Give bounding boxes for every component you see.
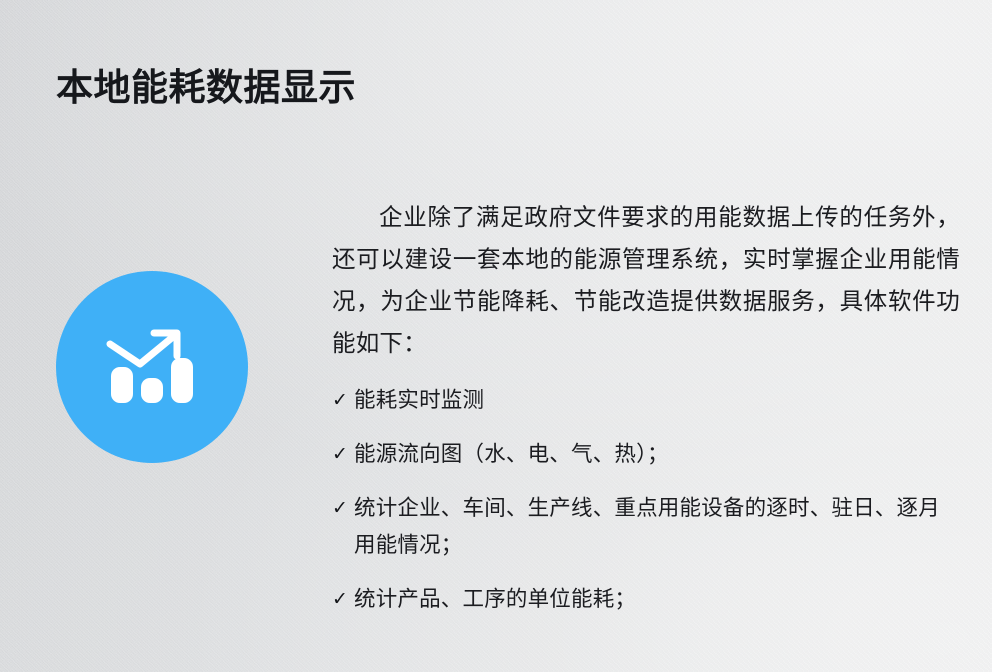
bar-chart-trending-up-icon: [56, 271, 248, 463]
check-icon: ✓: [332, 436, 348, 473]
list-item-label: 能耗实时监测: [354, 382, 960, 419]
slide-canvas: 本地能耗数据显示 企业除了满足政府文件要求的用能数据上传的任务外，还可以建设一套…: [0, 0, 992, 672]
list-item: ✓ 统计产品、工序的单位能耗；: [332, 581, 960, 618]
check-icon: ✓: [332, 490, 348, 527]
page-title: 本地能耗数据显示: [56, 66, 356, 110]
list-item: ✓ 统计企业、车间、生产线、重点用能设备的逐时、驻日、逐月用能情况；: [332, 490, 960, 564]
list-item: ✓ 能耗实时监测: [332, 382, 960, 419]
body-content: 企业除了满足政府文件要求的用能数据上传的任务外，还可以建设一套本地的能源管理系统…: [332, 196, 960, 618]
list-item-label: 统计企业、车间、生产线、重点用能设备的逐时、驻日、逐月用能情况；: [354, 490, 960, 564]
feature-bullet-list: ✓ 能耗实时监测 ✓ 能源流向图（水、电、气、热）； ✓ 统计企业、车间、生产线…: [332, 382, 960, 618]
intro-paragraph: 企业除了满足政府文件要求的用能数据上传的任务外，还可以建设一套本地的能源管理系统…: [332, 196, 960, 364]
check-icon: ✓: [332, 581, 348, 618]
list-item: ✓ 能源流向图（水、电、气、热）；: [332, 436, 960, 473]
check-icon: ✓: [332, 382, 348, 419]
list-item-label: 能源流向图（水、电、气、热）；: [354, 436, 960, 473]
list-item-label: 统计产品、工序的单位能耗；: [354, 581, 960, 618]
